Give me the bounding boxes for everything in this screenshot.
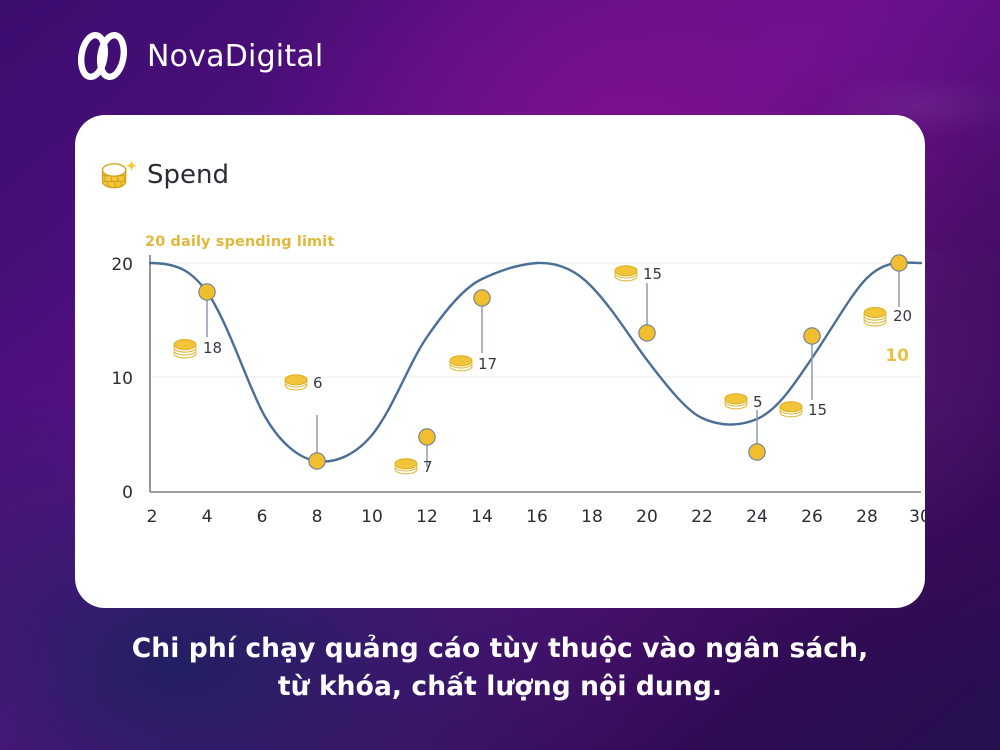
coin-stack-icon	[864, 308, 886, 326]
marker-value: 18	[203, 339, 222, 357]
data-point-marker[interactable]	[804, 328, 820, 344]
coin-stack-icon	[725, 394, 747, 409]
data-point-marker[interactable]	[419, 429, 435, 445]
marker-annotation-6[interactable]: 6	[285, 374, 325, 469]
data-point-marker[interactable]	[639, 325, 655, 341]
data-point-marker[interactable]	[309, 453, 325, 469]
marker-value: 7	[423, 458, 433, 476]
marker-annotation-17[interactable]: 17	[450, 290, 497, 373]
x-tick-12: 12	[416, 507, 438, 527]
y-tick-0: 0	[122, 483, 133, 503]
marker-value: 15	[808, 401, 827, 419]
data-point-marker[interactable]	[474, 290, 490, 306]
x-tick-16: 16	[526, 507, 548, 527]
x-tick-8: 8	[312, 507, 323, 527]
x-tick-2: 2	[147, 507, 158, 527]
caption: Chi phí chạy quảng cáo tùy thuộc vào ngâ…	[0, 630, 1000, 705]
x-tick-26: 26	[801, 507, 823, 527]
marker-value: 6	[313, 374, 323, 392]
x-tick-22: 22	[691, 507, 713, 527]
x-tick-4: 4	[202, 507, 213, 527]
coin-stack-icon	[615, 266, 637, 281]
x-tick-10: 10	[361, 507, 383, 527]
data-point-marker[interactable]	[749, 444, 765, 460]
coin-stack-icon	[450, 356, 472, 371]
coin-stack-icon	[285, 375, 307, 390]
x-tick-28: 28	[856, 507, 878, 527]
marker-annotation-18[interactable]: 18	[174, 284, 222, 358]
y-axis-ticks: 20 10 0	[111, 255, 133, 503]
poster-canvas: NovaDigital Spend	[0, 0, 1000, 750]
coin-stack-icon	[395, 459, 417, 474]
brand-name: NovaDigital	[147, 39, 323, 74]
x-tick-20: 20	[636, 507, 658, 527]
x-axis-ticks: 2 4 6 8 10 12 14 16 18 20 22 24 26 28 30	[147, 507, 925, 527]
marker-value: 17	[478, 355, 497, 373]
x-tick-24: 24	[746, 507, 768, 527]
marker-annotation-15b[interactable]: 15	[780, 328, 827, 419]
marker-value: 15	[643, 265, 662, 283]
spend-line-chart: 20 10 0 2 4 6 8 10 12 14 16 18 20 22 24 …	[75, 115, 925, 608]
chart-gridlines	[150, 263, 921, 377]
marker-annotation-7[interactable]: 7	[395, 429, 435, 476]
coin-stack-icon	[780, 402, 802, 417]
chart-axes	[150, 255, 921, 492]
y-tick-20: 20	[111, 255, 133, 275]
x-tick-30: 30	[909, 507, 925, 527]
nova-double-ring-icon	[74, 30, 132, 82]
marker-value: 20	[893, 307, 912, 325]
x-tick-6: 6	[257, 507, 268, 527]
spend-curve-line	[150, 262, 921, 461]
brand-logo: NovaDigital	[74, 30, 323, 82]
marker-annotation-5[interactable]: 5	[725, 393, 765, 460]
caption-line-1: Chi phí chạy quảng cáo tùy thuộc vào ngâ…	[0, 630, 1000, 668]
caption-line-2: từ khóa, chất lượng nội dung.	[0, 668, 1000, 706]
data-point-marker[interactable]	[199, 284, 215, 300]
x-tick-14: 14	[471, 507, 493, 527]
coin-stack-icon	[174, 340, 196, 358]
x-tick-18: 18	[581, 507, 603, 527]
marker-annotation-15a[interactable]: 15	[615, 265, 662, 341]
y-tick-10: 10	[111, 369, 133, 389]
spend-chart-card: Spend 20 daily spending limit 10	[75, 115, 925, 608]
data-point-marker[interactable]	[891, 255, 907, 271]
marker-value: 5	[753, 393, 763, 411]
